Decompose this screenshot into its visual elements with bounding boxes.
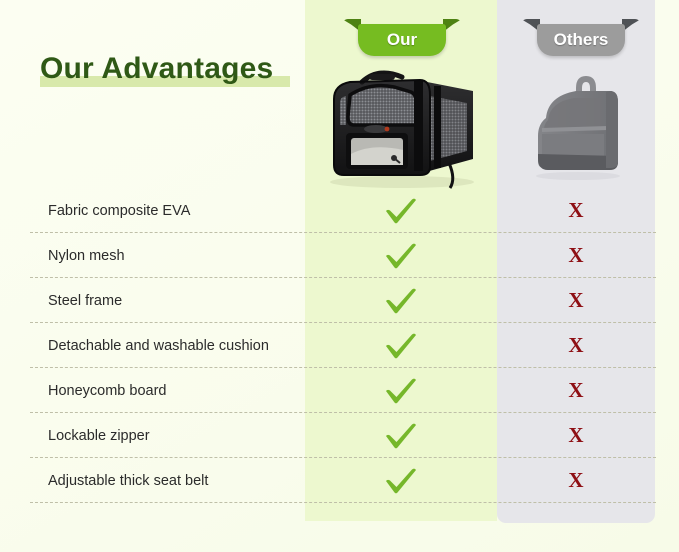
table-row: Adjustable thick seat belt X [0, 458, 679, 503]
mark-others: X [497, 323, 655, 368]
table-row: Lockable zipper X [0, 413, 679, 458]
table-row: Nylon mesh X [0, 233, 679, 278]
mark-others: X [497, 458, 655, 503]
row-separator [30, 502, 656, 503]
table-row: Fabric composite EVA X [0, 188, 679, 233]
mark-our [305, 188, 497, 233]
comparison-chart: Our Advantages Our Others [0, 0, 679, 552]
mark-our [305, 458, 497, 503]
check-icon [384, 287, 418, 315]
check-icon [384, 377, 418, 405]
check-icon [384, 422, 418, 450]
feature-label: Lockable zipper [48, 428, 150, 444]
check-icon [384, 242, 418, 270]
mark-our [305, 323, 497, 368]
column-header-others-label: Others [537, 24, 625, 56]
mark-others: X [497, 413, 655, 458]
product-image-our [310, 55, 490, 190]
feature-label: Steel frame [48, 293, 122, 309]
feature-label: Honeycomb board [48, 383, 167, 399]
header-ribbon-our: Our [358, 19, 446, 56]
mark-others: X [497, 233, 655, 278]
mark-our [305, 278, 497, 323]
mark-others: X [497, 278, 655, 323]
feature-label: Fabric composite EVA [48, 203, 190, 219]
mark-our [305, 233, 497, 278]
header-ribbon-others: Others [537, 19, 625, 56]
product-image-others [518, 58, 640, 188]
mark-our [305, 413, 497, 458]
table-row: Steel frame X [0, 278, 679, 323]
feature-table: Fabric composite EVA X Nylon mesh X Stee… [0, 188, 679, 503]
mark-others: X [497, 188, 655, 233]
page-title: Our Advantages [40, 52, 273, 86]
check-icon [384, 332, 418, 360]
column-header-our-label: Our [358, 24, 446, 56]
feature-label: Adjustable thick seat belt [48, 473, 208, 489]
mark-our [305, 368, 497, 413]
check-icon [384, 197, 418, 225]
page-title-wrapper: Our Advantages [40, 52, 273, 86]
table-row: Honeycomb board X [0, 368, 679, 413]
check-icon [384, 467, 418, 495]
feature-label: Detachable and washable cushion [48, 338, 269, 354]
feature-label: Nylon mesh [48, 248, 125, 264]
mark-others: X [497, 368, 655, 413]
table-row: Detachable and washable cushion X [0, 323, 679, 368]
